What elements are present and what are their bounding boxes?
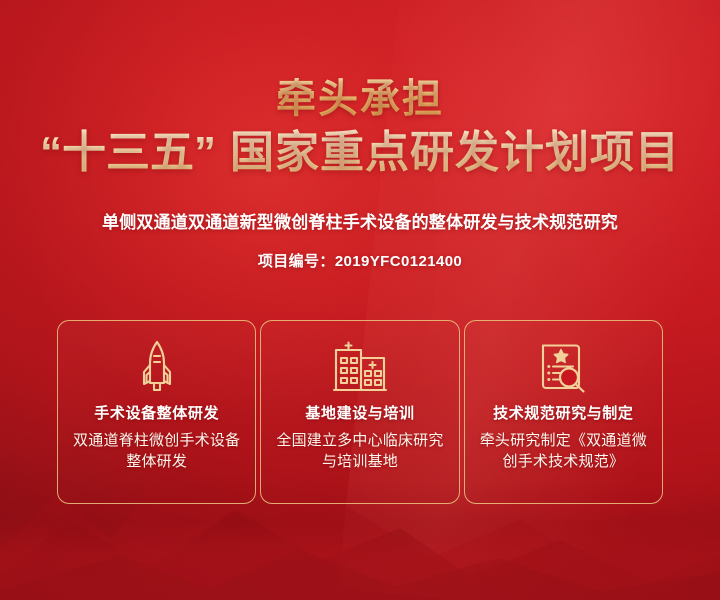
document-magnifier-icon bbox=[537, 339, 589, 395]
card-title: 基地建设与培训 bbox=[305, 402, 414, 423]
headline-quoted-term: “十三五” bbox=[40, 128, 216, 177]
feature-card-technical-standard[interactable]: 技术规范研究与制定 牵头研究制定《双通道微创手术技术规范》 bbox=[464, 320, 663, 504]
project-code: 项目编号：2019YFC0121400 bbox=[0, 250, 720, 271]
card-title: 手术设备整体研发 bbox=[94, 402, 219, 423]
card-title: 技术规范研究与制定 bbox=[493, 402, 633, 423]
project-subtitle: 单侧双通道双通道新型微创脊柱手术设备的整体研发与技术规范研究 bbox=[0, 208, 720, 233]
headline-primary: 牵头承担 bbox=[0, 78, 720, 121]
hospital-building-icon bbox=[332, 339, 388, 395]
card-description: 全国建立多中心临床研究与培训基地 bbox=[269, 430, 451, 473]
promo-banner: 牵头承担 “十三五”国家重点研发计划项目 单侧双通道双通道新型微创脊柱手术设备的… bbox=[0, 0, 720, 600]
feature-card-base-training[interactable]: 基地建设与培训 全国建立多中心临床研究与培训基地 bbox=[260, 320, 459, 504]
card-description: 双通道脊柱微创手术设备整体研发 bbox=[66, 430, 248, 473]
headline-secondary: “十三五”国家重点研发计划项目 bbox=[0, 128, 720, 177]
feature-card-equipment-rd[interactable]: 手术设备整体研发 双通道脊柱微创手术设备整体研发 bbox=[57, 320, 256, 504]
subtitle-group: 单侧双通道双通道新型微创脊柱手术设备的整体研发与技术规范研究 项目编号：2019… bbox=[0, 208, 720, 271]
headline-group: 牵头承担 “十三五”国家重点研发计划项目 bbox=[0, 78, 720, 177]
rocket-icon bbox=[135, 339, 179, 395]
headline-secondary-rest: 国家重点研发计划项目 bbox=[230, 128, 680, 177]
card-description: 牵头研究制定《双通道微创手术技术规范》 bbox=[472, 430, 654, 473]
feature-card-list: 手术设备整体研发 双通道脊柱微创手术设备整体研发 bbox=[57, 320, 663, 504]
